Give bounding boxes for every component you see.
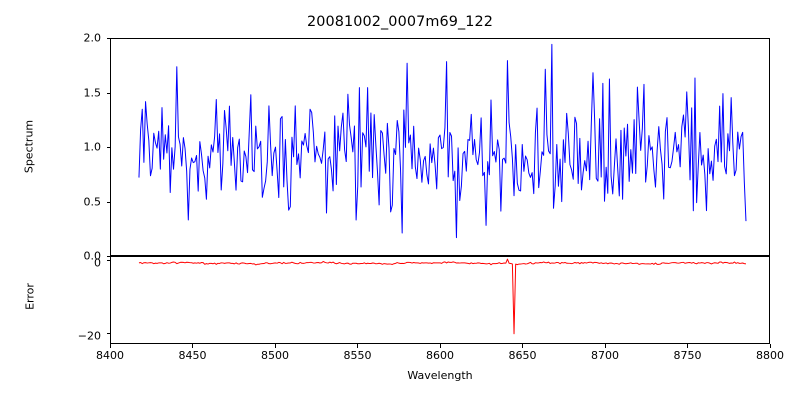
x-tick-mark	[110, 344, 111, 348]
error-panel	[110, 256, 770, 344]
spectrum-data-trace	[139, 44, 746, 237]
spectrum-y-tick-label: 0.5	[41, 195, 101, 208]
error-y-tick-mark	[107, 333, 111, 334]
spectrum-y-tick-mark	[107, 147, 111, 148]
error-y-tick-label: −20	[41, 330, 101, 343]
x-tick-mark	[275, 344, 276, 348]
x-tick-mark	[192, 344, 193, 348]
spectrum-y-tick-label: 2.0	[41, 32, 101, 45]
error-y-tick-label: 0	[41, 257, 101, 270]
spectrum-axis-label: Spectrum	[23, 97, 36, 197]
spectrum-y-tick-mark	[107, 202, 111, 203]
x-tick-mark	[687, 344, 688, 348]
error-y-tick-mark	[107, 260, 111, 261]
x-tick-mark	[440, 344, 441, 348]
x-tick-label: 8800	[735, 349, 800, 362]
x-tick-mark	[357, 344, 358, 348]
x-tick-label: 8650	[488, 349, 558, 362]
x-tick-label: 8400	[75, 349, 145, 362]
spectrum-panel	[110, 38, 770, 256]
x-tick-label: 8550	[323, 349, 393, 362]
x-axis-label: Wavelength	[110, 369, 770, 382]
spectrum-y-tick-mark	[107, 38, 111, 39]
spectrum-plot-area	[111, 39, 769, 255]
figure-canvas: 20081002_0007m69_122 Spectrum Error Wave…	[0, 0, 800, 400]
spectrum-y-tick-mark	[107, 256, 111, 257]
x-tick-label: 8750	[653, 349, 723, 362]
x-tick-mark	[605, 344, 606, 348]
spectrum-y-tick-mark	[107, 93, 111, 94]
x-tick-label: 8600	[405, 349, 475, 362]
error-plot-area	[111, 257, 769, 343]
x-tick-label: 8500	[240, 349, 310, 362]
x-tick-label: 8450	[158, 349, 228, 362]
x-tick-mark	[522, 344, 523, 348]
page-title: 20081002_0007m69_122	[0, 14, 800, 30]
x-tick-label: 8700	[570, 349, 640, 362]
x-tick-mark	[770, 344, 771, 348]
spectrum-y-tick-label: 1.5	[41, 86, 101, 99]
error-axis-label: Error	[24, 257, 37, 337]
spectrum-y-tick-label: 1.0	[41, 141, 101, 154]
error-data-trace	[139, 259, 746, 334]
